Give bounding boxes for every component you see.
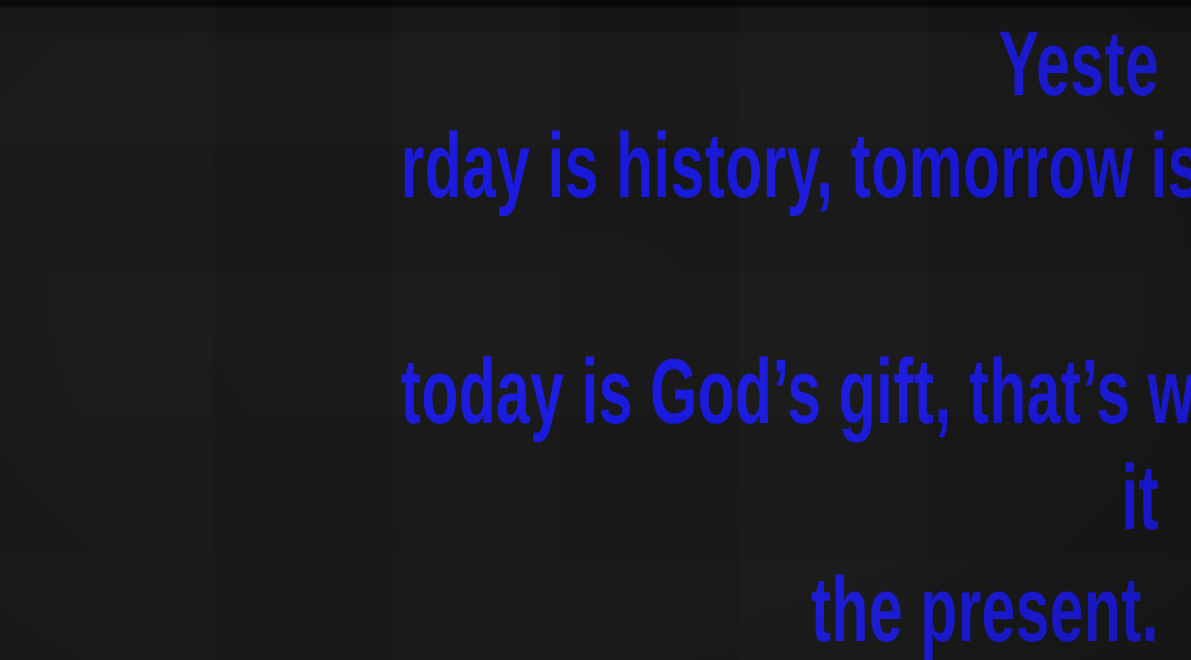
caption-line-3: today is God’s gift, that’s why we call <box>401 342 1159 442</box>
caption-line-1: Yeste <box>401 14 1159 114</box>
caption-line-blank <box>10 216 1159 342</box>
caption-line-4: it <box>401 448 1159 548</box>
caption-line-5: the present. <box>401 560 1159 660</box>
caption-text-block: Yeste rday is history, tomorrow is a mys… <box>0 0 1191 660</box>
video-caption-stage: Yeste rday is history, tomorrow is a mys… <box>0 0 1191 660</box>
caption-line-2: rday is history, tomorrow is a mystery, <box>401 116 1159 216</box>
